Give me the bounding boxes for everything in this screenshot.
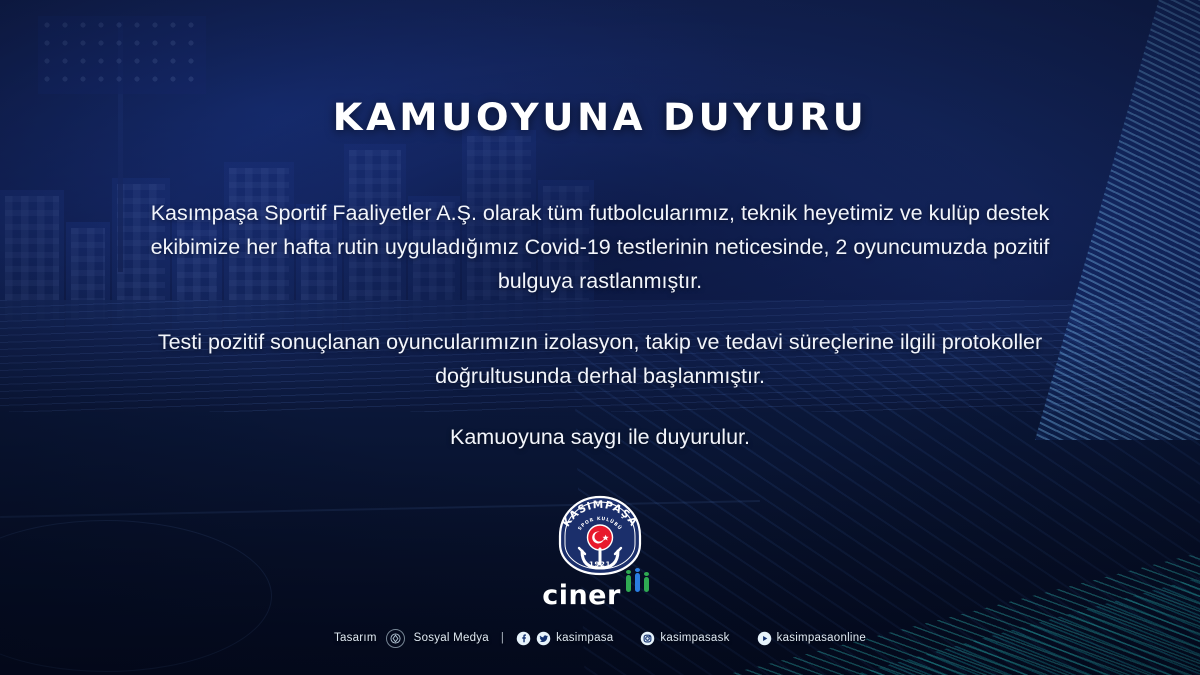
handle-kasimpasaonline[interactable]: kasimpasaonline bbox=[777, 632, 866, 644]
sponsor-logo-container: ciner bbox=[0, 578, 1200, 612]
svg-text:1921: 1921 bbox=[589, 561, 611, 569]
sponsor-name: ciner bbox=[542, 582, 621, 609]
kasimpasa-club-crest-icon: KASIMPAŞA SPOR KULÜBÜ 1921 bbox=[552, 494, 648, 578]
twitter-icon[interactable] bbox=[536, 631, 551, 646]
social-account-kasimpasaonline[interactable]: kasimpasaonline bbox=[757, 631, 866, 646]
club-crest-container: KASIMPAŞA SPOR KULÜBÜ 1921 bbox=[0, 494, 1200, 578]
social-media-label: Sosyal Medya bbox=[414, 632, 489, 644]
handle-kasimpasa[interactable]: kasimpasa bbox=[556, 632, 613, 644]
announcement-graphic: KAMUOYUNA DUYURU Kasımpaşa Sportif Faali… bbox=[0, 0, 1200, 675]
paragraph-1: Kasımpaşa Sportif Faaliyetler A.Ş. olara… bbox=[150, 196, 1050, 298]
footer-separator: | bbox=[501, 632, 504, 644]
page-title: KAMUOYUNA DUYURU bbox=[0, 96, 1200, 139]
design-label: Tasarım bbox=[334, 632, 377, 644]
announcement-body: Kasımpaşa Sportif Faaliyetler A.Ş. olara… bbox=[150, 196, 1050, 454]
paragraph-2: Testi pozitif sonuçlanan oyuncularımızın… bbox=[150, 325, 1050, 393]
ciner-group-logo-icon: ciner bbox=[542, 578, 658, 612]
youtube-icon[interactable] bbox=[757, 631, 772, 646]
kasimpasa-emblem-icon bbox=[386, 629, 405, 648]
handle-kasimpasask[interactable]: kasimpasask bbox=[660, 632, 729, 644]
instagram-icon[interactable] bbox=[640, 631, 655, 646]
social-account-kasimpasa[interactable]: kasimpasa bbox=[516, 631, 613, 646]
facebook-icon[interactable] bbox=[516, 631, 531, 646]
social-account-kasimpasask[interactable]: kasimpasask bbox=[640, 631, 729, 646]
paragraph-3: Kamuoyuna saygı ile duyurulur. bbox=[150, 420, 1050, 454]
footer-credits: Tasarım Sosyal Medya | bbox=[0, 626, 1200, 650]
ciner-figures-icon bbox=[624, 570, 658, 600]
